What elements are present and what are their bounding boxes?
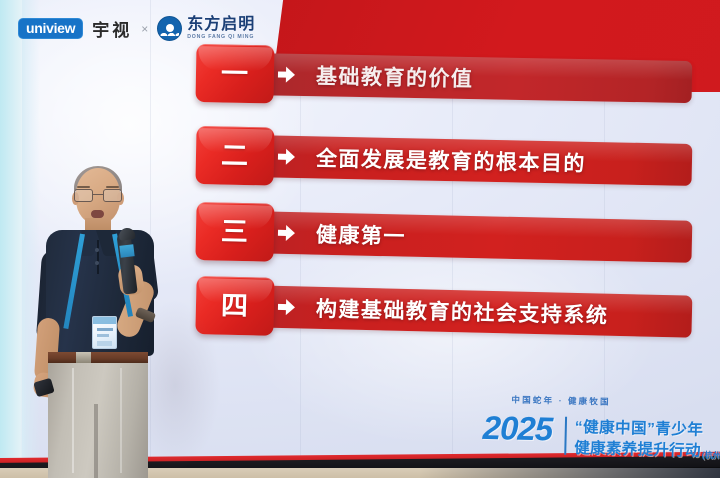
event-title-line-2-main: 健康素养提升行动 xyxy=(574,436,701,461)
partner-separator-icon: × xyxy=(141,22,148,36)
slide-row-number: 二 xyxy=(221,142,250,170)
slide-row-number-chip: 一 xyxy=(195,44,274,103)
partner-logo-lockup: 东方启明 DONG FANG QI MING xyxy=(157,16,255,41)
slide-row-text: 健康第一 xyxy=(316,219,407,251)
slide-row: 四 构建基础教育的社会支持系统 xyxy=(195,276,701,346)
right-arrow-icon xyxy=(278,225,295,241)
glasses-lens-right xyxy=(103,189,122,202)
uniview-chinese-name: 宇视 xyxy=(92,16,132,41)
event-title-line-2: 健康素养提升行动 (杭州滨江站) xyxy=(574,436,720,462)
name-badge-icon xyxy=(92,316,117,349)
slide-row-text: 基础教育的价值 xyxy=(316,60,474,93)
presenter-belt-buckle xyxy=(76,352,91,363)
slide-row-number: 一 xyxy=(221,60,249,88)
stage-floor-reflection xyxy=(420,468,720,478)
water-wave-shape xyxy=(160,28,179,36)
partner-english-name: DONG FANG QI MING xyxy=(187,35,255,40)
event-year: 2025 xyxy=(482,411,552,446)
presenter-shirt-button xyxy=(95,248,99,252)
uniview-wordmark: uniview xyxy=(26,21,75,36)
event-banner: 中国蛇年 · 健康牧国 2025 “健康中国”青少年 健康素养提升行动 (杭州滨… xyxy=(482,393,711,466)
trouser-leg-gap xyxy=(94,404,98,478)
partner-name-block: 东方启明 DONG FANG QI MING xyxy=(187,17,255,40)
logo-lockup: uniview 宇视 × 东方启明 DONG FANG QI MING xyxy=(18,16,255,41)
right-arrow-icon xyxy=(278,299,295,315)
slide-row: 二 全面发展是教育的根本目的 xyxy=(195,126,701,194)
presenter-mouth-speaking xyxy=(91,210,104,218)
presenter-shirt-button xyxy=(95,261,99,265)
right-arrow-icon xyxy=(278,149,295,165)
partner-chinese-name: 东方启明 xyxy=(187,17,255,33)
presenter-belt xyxy=(48,352,148,363)
presenter-shirt-placket xyxy=(97,240,99,274)
presenter-trousers xyxy=(48,361,148,478)
presenter-eyebrow-right xyxy=(106,186,119,188)
slide-row: 一 基础教育的价值 xyxy=(195,44,701,111)
slide-row-number: 四 xyxy=(221,292,250,320)
right-arrow-icon xyxy=(278,67,295,83)
uniview-logo-badge: uniview xyxy=(18,18,83,40)
glasses-lens-left xyxy=(74,189,93,202)
microphone-blue-band xyxy=(119,244,134,258)
conference-stage-scene: uniview 宇视 × 东方启明 DONG FANG QI MING 一 基础… xyxy=(0,0,720,478)
slide-row-number: 三 xyxy=(221,218,250,246)
event-tagline: 中国蛇年 · 健康牧国 xyxy=(511,393,611,407)
event-venue-suffix: (杭州滨江站) xyxy=(702,449,720,462)
eyeglasses-icon xyxy=(73,189,124,202)
slide-content-list: 一 基础教育的价值 二 全面发展是教育的根本目的 三 xyxy=(196,44,701,344)
trouser-crease xyxy=(72,368,74,473)
trouser-crease xyxy=(120,368,122,473)
glasses-bridge xyxy=(93,194,103,195)
sun-over-water-seal-icon xyxy=(157,16,182,41)
slide-row: 三 健康第一 xyxy=(195,202,701,271)
presenter-figure xyxy=(28,168,188,478)
slide-row-number-chip: 二 xyxy=(195,126,274,186)
presenter-eyebrow-left xyxy=(77,186,90,188)
slide-row-number-chip: 三 xyxy=(195,202,274,262)
slide-row-text: 全面发展是教育的根本目的 xyxy=(316,142,587,177)
event-banner-divider xyxy=(564,417,567,455)
